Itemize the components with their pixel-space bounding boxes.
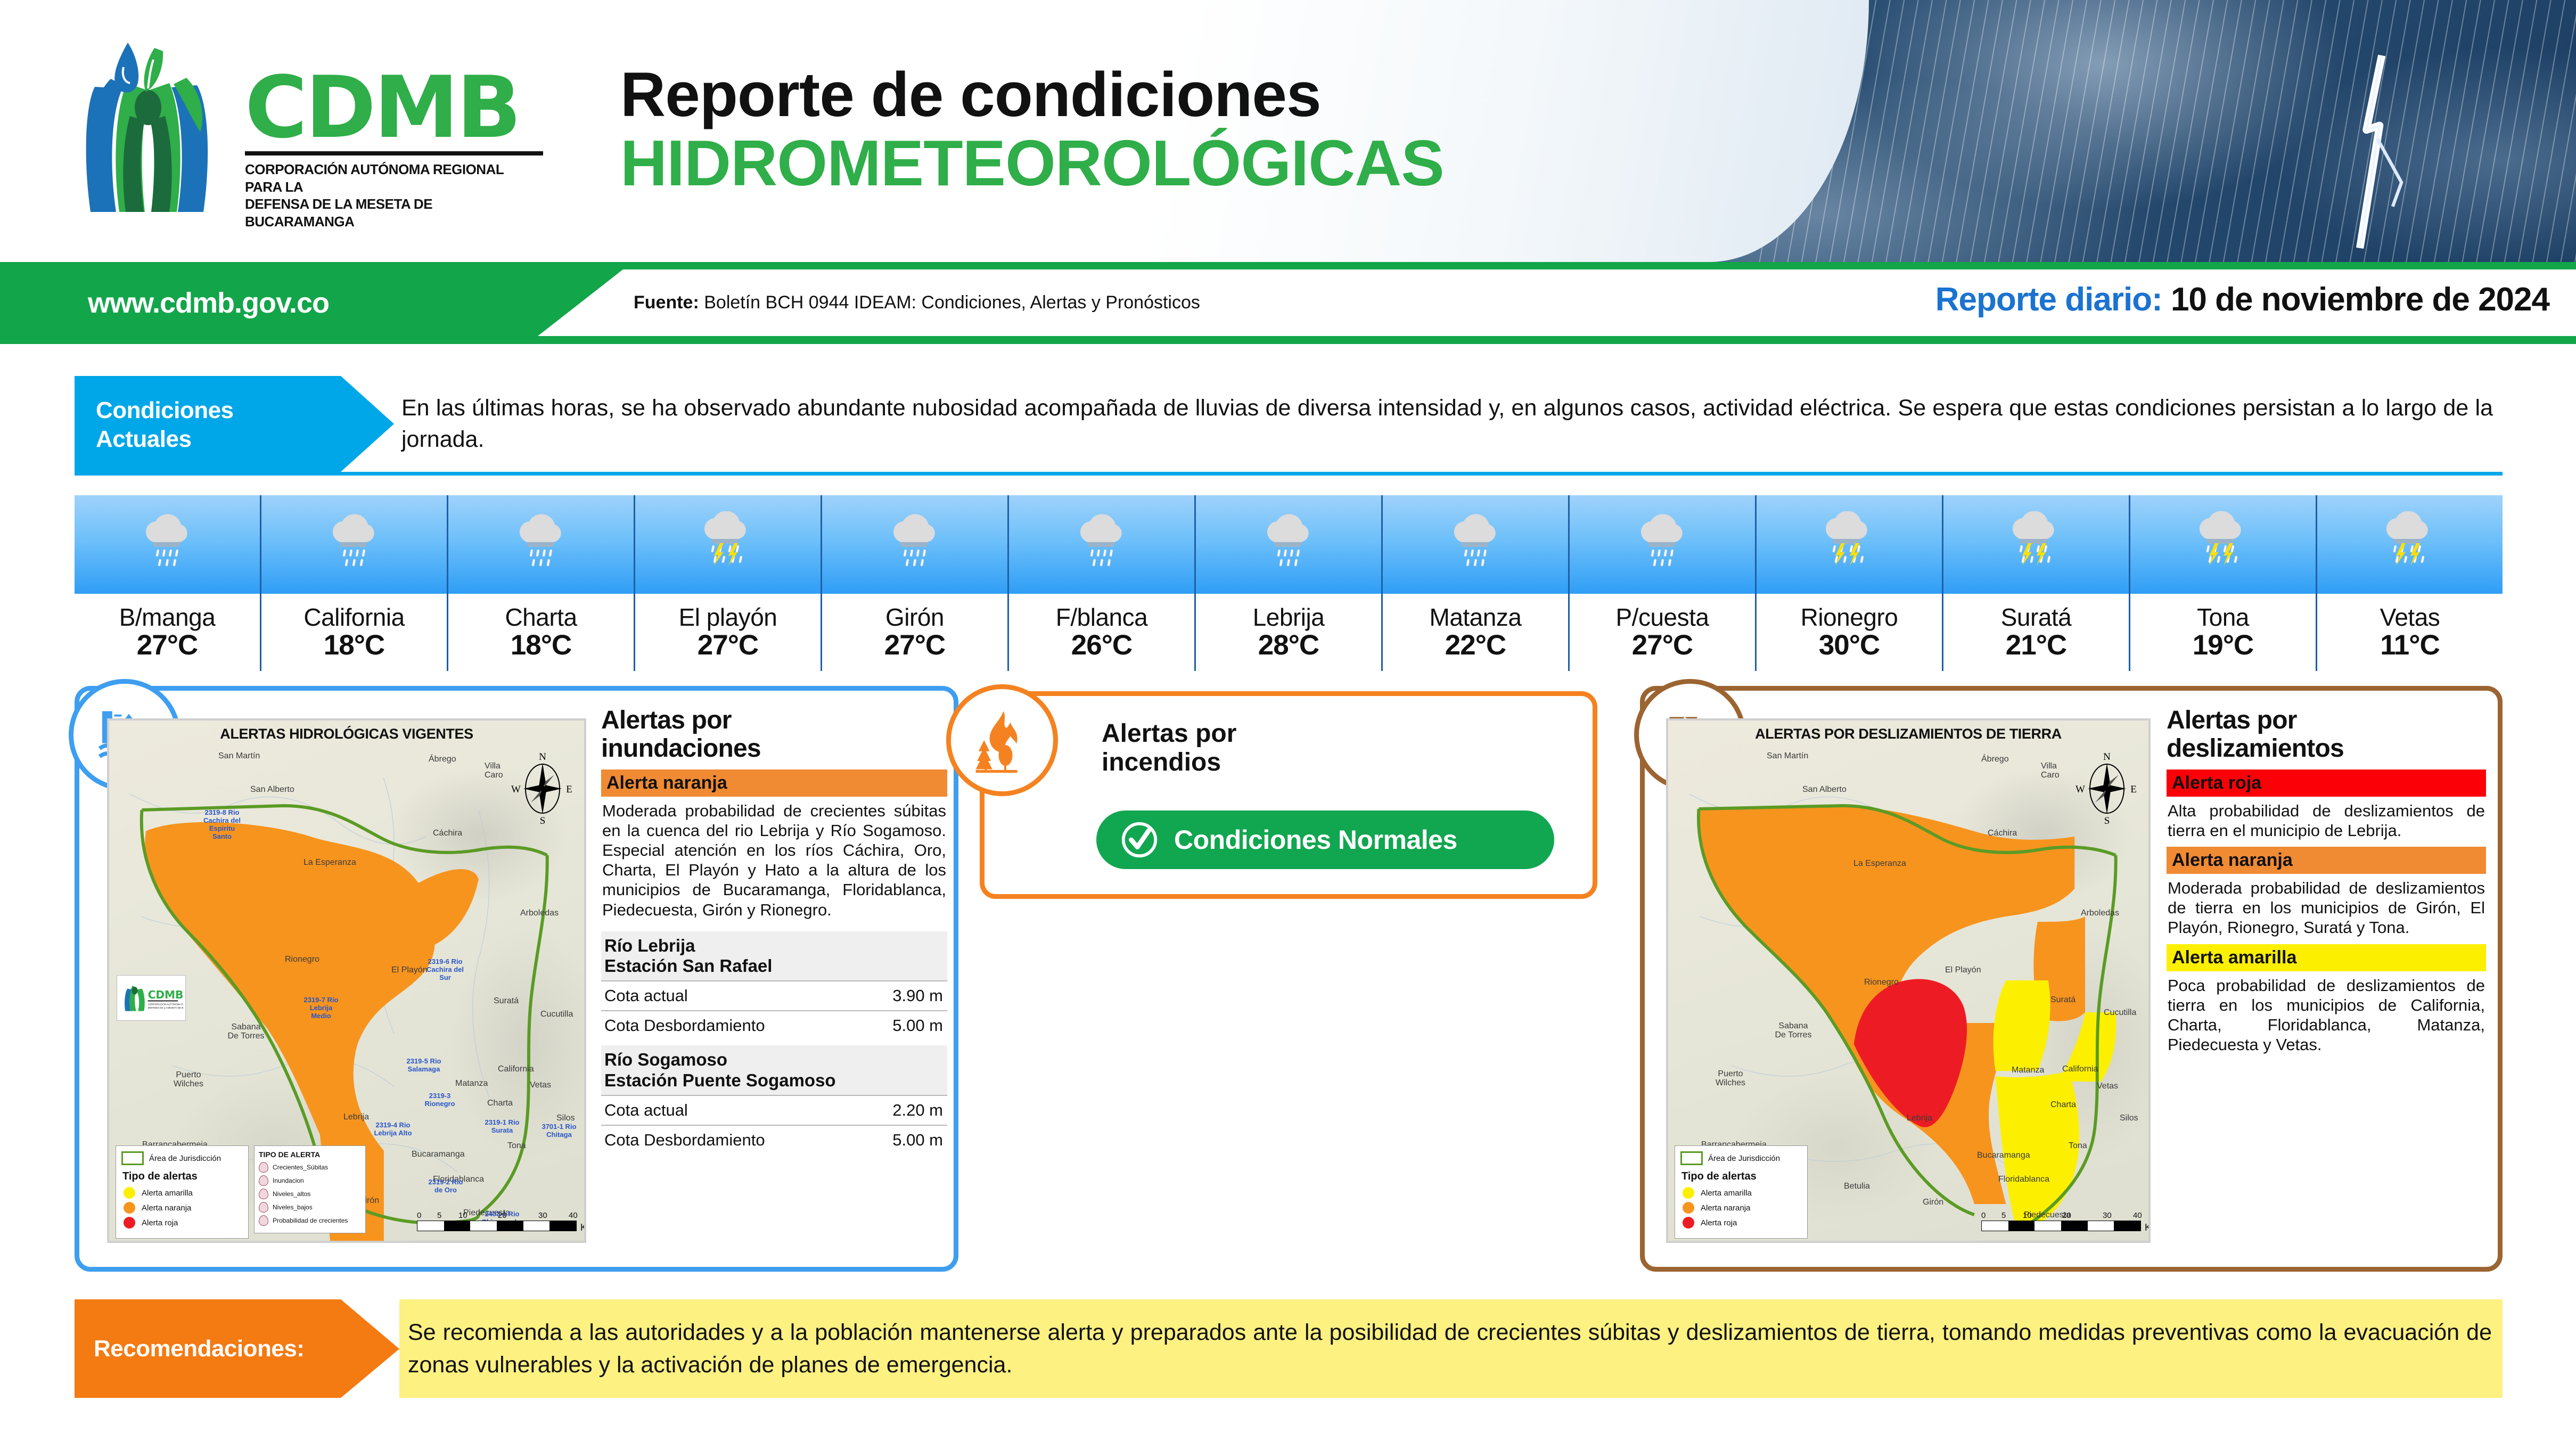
map-place-label: La Esperanza <box>303 858 356 867</box>
weather-icon-sky <box>1943 495 2129 594</box>
landslide-alert-description-yellow: Poca probabilidad de deslizamientos de t… <box>2167 971 2486 1061</box>
alert-type-label: Inundacion <box>273 1177 304 1184</box>
map-place-label: Silos <box>2120 1114 2138 1123</box>
svg-text:E: E <box>566 784 572 795</box>
logo-subtitle-line1: CORPORACIÓN AUTÓNOMA REGIONAL PARA LA <box>245 161 543 195</box>
temperature-label-block: Rionegro30°C <box>1757 594 1942 671</box>
alert-type-legend-title: TIPO DE ALERTA <box>259 1150 361 1159</box>
temperature-value: 28°C <box>1258 631 1319 660</box>
temperature-cell: P/cuesta27°C <box>1570 495 1757 671</box>
map-river-label: 2319-5 Rio Salamaga <box>405 1058 443 1074</box>
map-place-label: Villa Caro <box>485 762 509 780</box>
temperature-city: Suratá <box>2001 605 2072 630</box>
map-place-label: Vetas <box>530 1080 551 1090</box>
weather-icon-sky <box>75 495 260 594</box>
legend-item-label: Alerta roja <box>142 1218 178 1227</box>
current-conditions-tag-line2: Actuales <box>96 425 394 454</box>
fire-panel-heading: Alertas por incendios <box>1102 719 1236 777</box>
station-row-label: Cota Desbordamiento <box>604 1131 765 1150</box>
temperature-city: Rionegro <box>1801 605 1898 630</box>
legend-item-label: Alerta roja <box>1701 1218 1737 1227</box>
legend-swatch-yellow <box>124 1187 135 1199</box>
landslide-alert-level-badge-orange: Alerta naranja <box>2167 847 2486 874</box>
station-row-value: 2.20 m <box>892 1101 943 1120</box>
station-row: Cota Desbordamiento 5.00 m <box>601 1125 947 1155</box>
station-name: Estación Puente Sogamoso <box>604 1070 943 1091</box>
temperature-value: 19°C <box>2193 631 2253 660</box>
recommendations-tag: Recomendaciones: <box>75 1299 399 1398</box>
map-place-label: Arboledas <box>2081 908 2119 918</box>
weather-icon-sky <box>2317 495 2503 594</box>
temperature-city: Matanza <box>1430 605 1522 630</box>
svg-text:CORPORACIÓN AUTÓNOMA REGIONAL: CORPORACIÓN AUTÓNOMA REGIONAL <box>148 1003 183 1006</box>
map-place-label: Tona <box>507 1141 526 1151</box>
alert-type-label: Crecientes_Súbitas <box>273 1164 328 1171</box>
alert-type-label: Probabilidad de crecientes <box>273 1217 348 1224</box>
temperature-cell: Vetas11°C <box>2317 495 2503 671</box>
flood-panel-heading: Alertas por inundaciones <box>601 707 947 763</box>
map-place-label: Puerto Wilches <box>168 1071 209 1089</box>
landslide-alert-level-badge-yellow: Alerta amarilla <box>2167 944 2486 971</box>
page-header: CDMB CORPORACIÓN AUTÓNOMA REGIONAL PARA … <box>0 0 2576 262</box>
legend-jurisdiction-swatch <box>121 1151 144 1165</box>
scale-tick: 30 <box>2103 1211 2112 1220</box>
thunderstorm-icon <box>2004 511 2068 578</box>
svg-text:N: N <box>539 751 546 763</box>
legend-jurisdiction-label: Área de Jurisdicción <box>149 1154 221 1163</box>
legend-swatch-yellow <box>1683 1187 1694 1199</box>
station-header: Río Lebrija Estación San Rafael <box>601 931 947 981</box>
landslide-panel-heading: Alertas por deslizamientos <box>2167 707 2486 763</box>
map-scale-bar: 0 5 10 20 30 40 Km <box>1981 1211 2141 1231</box>
legend-title: Tipo de alertas <box>122 1170 243 1183</box>
landslide-alert-description-red: Alta probabilidad de deslizamientos de t… <box>2167 797 2486 847</box>
logo-acronym: CDMB <box>245 67 543 148</box>
svg-text:N: N <box>2103 751 2111 763</box>
alert-type-pin-icon <box>259 1162 268 1173</box>
map-place-label: Ábrego <box>1981 755 2009 764</box>
current-conditions-section: Condiciones Actuales En las últimas hora… <box>75 376 2503 472</box>
map-place-label: Puerto Wilches <box>1710 1070 1751 1088</box>
cdmb-logo-mark-icon <box>64 36 240 217</box>
scale-tick: 20 <box>498 1211 507 1220</box>
temperature-city: California <box>303 605 404 630</box>
temperature-cell: El playón27°C <box>635 495 822 671</box>
map-cdmb-logo: CDMB CORPORACIÓN AUTÓNOMA REGIONAL DEFEN… <box>117 975 186 1021</box>
source-value: Boletín BCH 0944 IDEAM: Condiciones, Ale… <box>704 292 1200 313</box>
map-place-label: San Alberto <box>1802 785 1847 795</box>
map-canvas: San Martín San Alberto Ábrego Villa Caro… <box>1668 746 2148 1243</box>
station-row-label: Cota Desbordamiento <box>604 1016 765 1035</box>
fire-status-badge: Condiciones Normales <box>1096 811 1554 869</box>
legend-swatch-red <box>1683 1217 1694 1229</box>
map-river-label: 2319-3 Rionegro <box>421 1092 459 1108</box>
weather-icon-sky <box>2130 495 2316 594</box>
temperature-cell: California18°C <box>261 495 448 671</box>
temperature-strip: B/manga27°C California18°C <box>75 495 2503 671</box>
fire-status-label: Condiciones Normales <box>1174 824 1457 855</box>
current-conditions-underline <box>75 472 2503 476</box>
map-place-label: San Martín <box>218 751 260 761</box>
map-place-label: El Playón <box>391 965 428 975</box>
weather-icon-sky <box>1009 495 1194 594</box>
current-conditions-text: En las últimas horas, se ha observado ab… <box>394 376 2503 472</box>
temperature-city: El playón <box>679 605 777 630</box>
temperature-label-block: Suratá21°C <box>1943 594 2129 671</box>
temperature-label-block: California18°C <box>261 594 447 671</box>
map-place-label: Matanza <box>2012 1066 2044 1075</box>
map-title: ALERTAS HIDROLÓGICAS VIGENTES <box>109 726 584 742</box>
map-place-label: Bucaramanga <box>412 1150 465 1159</box>
alert-type-pin-icon <box>259 1202 268 1213</box>
temperature-city: P/cuesta <box>1616 605 1709 630</box>
source-text: Fuente: Boletín BCH 0944 IDEAM: Condicio… <box>634 292 1200 313</box>
forest-fire-icon <box>946 684 1058 796</box>
compass-rose-icon: N S E W <box>2075 751 2139 826</box>
thunderstorm-icon <box>1817 511 1881 578</box>
thunderstorm-icon <box>696 511 760 578</box>
flood-alert-text-column: Alertas por inundaciones Alerta naranja … <box>601 707 947 1155</box>
scale-tick: 10 <box>2023 1211 2032 1220</box>
compass-rose-icon: N S E W <box>511 751 575 826</box>
map-place-label: Villa Caro <box>2041 762 2065 780</box>
legend-title: Tipo de alertas <box>1681 1170 1802 1183</box>
temperature-value: 18°C <box>511 631 571 660</box>
legend-swatch-orange <box>1683 1202 1694 1214</box>
temperature-city: B/manga <box>119 605 216 630</box>
title-line-1: Reporte de condiciones <box>620 61 1738 129</box>
landslide-alert-level-badge-red: Alerta roja <box>2167 769 2486 797</box>
alert-type-pin-icon <box>259 1189 268 1199</box>
rain-cloud-icon <box>509 511 573 578</box>
flood-alert-level-badge: Alerta naranja <box>601 769 947 797</box>
map-place-label: California <box>2062 1065 2098 1074</box>
flood-alerts-panel: ALERTAS HIDROLÓGICAS VIGENTES <box>75 686 958 1272</box>
station-row-value: 5.00 m <box>892 1131 943 1150</box>
weather-icon-sky <box>1383 495 1568 594</box>
temperature-cell: B/manga27°C <box>75 495 261 671</box>
legend-item-label: Alerta amarilla <box>1701 1189 1752 1198</box>
svg-text:CDMB: CDMB <box>148 988 183 1001</box>
station-name: Estación San Rafael <box>604 956 943 976</box>
weather-icon-sky <box>822 495 1007 594</box>
scale-unit: Km <box>580 1222 586 1233</box>
landslide-alerts-map[interactable]: ALERTAS POR DESLIZAMIENTOS DE TIERRA <box>1666 718 2151 1243</box>
temperature-cell: Matanza22°C <box>1383 495 1570 671</box>
map-place-label: Tona <box>2069 1141 2087 1151</box>
legend-item-label: Alerta naranja <box>142 1204 191 1213</box>
map-canvas: San Martín San Alberto Ábrego Villa Caro… <box>109 746 584 1243</box>
map-place-label: Suratá <box>2050 995 2075 1005</box>
weather-icon-sky <box>1196 495 1381 594</box>
map-legend: Área de Jurisdicción Tipo de alertas Ale… <box>1675 1145 1808 1239</box>
svg-text:E: E <box>2130 784 2137 795</box>
map-place-label: Charta <box>487 1099 513 1108</box>
weather-icon-sky <box>635 495 821 594</box>
map-place-label: Betulia <box>1844 1182 1870 1191</box>
map-place-label: Matanza <box>455 1079 488 1088</box>
temperature-city: Vetas <box>2380 605 2440 630</box>
temperature-cell: Girón27°C <box>822 495 1009 671</box>
map-place-label: San Alberto <box>250 785 294 795</box>
map-place-label: Sabana De Torres <box>1773 1022 1814 1040</box>
map-place-label: Lebrija <box>343 1112 369 1122</box>
rain-cloud-icon <box>883 511 947 578</box>
map-legend: Área de Jurisdicción Tipo de alertas Ale… <box>116 1145 249 1239</box>
temperature-city: Charta <box>505 605 577 630</box>
temperature-cell: Lebrija28°C <box>1196 495 1383 671</box>
temperature-city: Lebrija <box>1253 605 1325 630</box>
legend-jurisdiction-label: Área de Jurisdicción <box>1708 1154 1780 1163</box>
flood-heading-line1: Alertas por <box>601 707 947 735</box>
website-link[interactable]: www.cdmb.gov.co <box>88 286 329 320</box>
flood-heading-line2: inundaciones <box>601 735 947 763</box>
temperature-label-block: Tona19°C <box>2130 594 2316 671</box>
temperature-label-block: Charta18°C <box>448 594 634 671</box>
map-place-label: San Martín <box>1767 751 1808 761</box>
report-date-value: 10 de noviembre de 2024 <box>2171 281 2549 318</box>
temperature-value: 27°C <box>698 631 758 660</box>
map-place-label: Suratá <box>494 996 519 1006</box>
temperature-value: 30°C <box>1819 631 1880 660</box>
thunderstorm-icon <box>2191 511 2255 578</box>
temperature-value: 27°C <box>1632 631 1693 660</box>
thunderstorm-icon <box>2378 511 2442 578</box>
legend-swatch-orange <box>124 1202 135 1214</box>
current-conditions-tag-line1: Condiciones <box>96 396 394 425</box>
scale-tick: 40 <box>2133 1211 2142 1220</box>
temperature-value: 27°C <box>137 631 198 660</box>
map-place-label: California <box>498 1065 534 1074</box>
scale-tick: 30 <box>538 1211 547 1220</box>
temperature-label-block: Matanza22°C <box>1383 594 1568 671</box>
station-row-value: 3.90 m <box>892 986 943 1005</box>
station-block-lebrija: Río Lebrija Estación San Rafael Cota act… <box>601 931 947 1041</box>
svg-text:W: W <box>2075 784 2085 795</box>
map-place-label: Floridablanca <box>1998 1175 2049 1184</box>
rain-cloud-icon <box>322 511 386 578</box>
fire-heading-line1: Alertas por <box>1102 719 1236 748</box>
scale-tick: 10 <box>458 1211 467 1220</box>
station-row: Cota Desbordamiento 5.00 m <box>601 1010 947 1040</box>
map-river-label: 2319-1 Rio Surata <box>482 1119 522 1135</box>
alert-type-pin-icon <box>259 1175 268 1186</box>
svg-text:W: W <box>511 784 521 795</box>
map-river-label: 2319-7 Rio Lebrija Medio <box>302 996 340 1020</box>
info-bar-bottom-rule <box>0 339 2576 344</box>
svg-text:DEFENSA DE LA MESETA DE BUCARA: DEFENSA DE LA MESETA DE BUCARAMANGA <box>148 1006 183 1009</box>
temperature-label-block: P/cuesta27°C <box>1570 594 1755 671</box>
cdmb-logo: CDMB CORPORACIÓN AUTÓNOMA REGIONAL PARA … <box>64 36 543 233</box>
legend-swatch-red <box>124 1217 135 1229</box>
map-place-label: Silos <box>556 1114 575 1123</box>
temperature-value: 27°C <box>884 631 945 660</box>
map-place-label: El Playón <box>1945 965 1981 975</box>
temperature-label-block: B/manga27°C <box>75 594 260 671</box>
landslide-heading-line2: deslizamientos <box>2167 735 2486 763</box>
temperature-label-block: Lebrija28°C <box>1196 594 1381 671</box>
scale-unit: Km <box>2145 1222 2151 1233</box>
rain-cloud-icon <box>1070 511 1134 578</box>
station-row-label: Cota actual <box>604 986 688 1005</box>
map-river-label: 2319-4 Rio Lebrija Alto <box>373 1121 413 1137</box>
alert-type-label: Niveles_altos <box>273 1190 310 1198</box>
station-row-value: 5.00 m <box>892 1016 943 1035</box>
map-place-label: Bucaramanga <box>1977 1151 2030 1160</box>
temperature-label-block: Girón27°C <box>822 594 1007 671</box>
temperature-city: F/blanca <box>1056 605 1147 630</box>
source-label: Fuente: <box>634 292 699 313</box>
page-title: Reporte de condiciones HIDROMETEOROLÓGIC… <box>620 61 1738 198</box>
map-river-label: 2319-8 Rio Cachira del Espiritu Santo <box>201 809 243 841</box>
map-place-label: La Esperanza <box>1853 859 1906 869</box>
check-circle-icon <box>1119 819 1160 861</box>
map-place-label: Vetas <box>2097 1082 2118 1091</box>
map-place-label: Cáchira <box>1988 829 2017 838</box>
landslide-alert-text-column: Alertas por deslizamientos Alerta roja A… <box>2167 707 2486 1061</box>
temperature-cell: Suratá21°C <box>1943 495 2130 671</box>
rain-cloud-icon <box>1257 511 1320 578</box>
rain-cloud-icon <box>135 511 199 578</box>
temperature-value: 26°C <box>1071 631 1132 660</box>
temperature-city: Tona <box>2197 605 2249 630</box>
temperature-label-block: F/blanca26°C <box>1009 594 1194 671</box>
temperature-value: 22°C <box>1445 631 1506 660</box>
legend-item-label: Alerta naranja <box>1701 1204 1750 1213</box>
temperature-value: 18°C <box>324 631 384 660</box>
legend-item-label: Alerta amarilla <box>142 1189 193 1198</box>
station-row: Cota actual 2.20 m <box>601 1095 947 1125</box>
weather-icon-sky <box>448 495 634 594</box>
recommendations-section: Recomendaciones: Se recomienda a las aut… <box>75 1299 2503 1398</box>
map-scale-bar: 0 5 10 20 30 40 Km <box>417 1211 577 1231</box>
rain-cloud-icon <box>1443 511 1507 578</box>
title-line-2: HIDROMETEOROLÓGICAS <box>620 129 1738 198</box>
scale-tick: 5 <box>437 1211 441 1220</box>
scale-tick: 20 <box>2062 1211 2071 1220</box>
scale-tick: 0 <box>1981 1211 1986 1220</box>
station-row: Cota actual 3.90 m <box>601 980 947 1010</box>
rain-streaks <box>1757 0 2576 262</box>
report-date: Reporte diario: 10 de noviembre de 2024 <box>1935 281 2549 318</box>
lightning-bolt-icon <box>2343 53 2412 250</box>
station-block-sogamoso: Río Sogamoso Estación Puente Sogamoso Co… <box>601 1045 947 1155</box>
landslide-alert-description-orange: Moderada probabilidad de deslizamientos … <box>2167 874 2486 944</box>
legend-jurisdiction-swatch <box>1680 1151 1703 1165</box>
logo-subtitle-line2: DEFENSA DE LA MESETA DE BUCARAMANGA <box>245 195 543 230</box>
map-river-label: 3701-1 Rio Chitaga <box>542 1123 577 1139</box>
temperature-label-block: Vetas11°C <box>2317 594 2503 671</box>
svg-text:S: S <box>2104 815 2110 826</box>
map-river-label: 2319-2 Rio de Oro <box>426 1178 465 1194</box>
scale-tick: 5 <box>2001 1211 2006 1220</box>
map-place-label: Sabana De Torres <box>225 1023 267 1041</box>
temperature-cell: F/blanca26°C <box>1009 495 1196 671</box>
fire-alerts-panel: Alertas por incendios Condiciones Normal… <box>980 691 1597 899</box>
alert-type-label: Niveles_bajos <box>273 1204 313 1211</box>
map-place-label: Lebrija <box>1907 1114 1932 1123</box>
rain-cloud-icon <box>1630 511 1694 578</box>
map-place-label: Rionegro <box>285 955 319 964</box>
flood-alert-description: Moderada probabilidad de crecientes súbi… <box>601 797 947 926</box>
landslide-heading-line1: Alertas por <box>2167 707 2486 735</box>
landslide-alerts-panel: ALERTAS POR DESLIZAMIENTOS DE TIERRA <box>1640 686 2503 1272</box>
temperature-cell: Rionegro30°C <box>1757 495 1943 671</box>
scale-tick: 0 <box>417 1211 421 1220</box>
map-place-label: Charta <box>2050 1100 2076 1110</box>
map-place-label: Rionegro <box>1864 978 1899 987</box>
map-river-label: 2319-6 Rio Cachira del Sur <box>426 958 464 982</box>
station-river-name: Río Lebrija <box>604 936 943 956</box>
map-title: ALERTAS POR DESLIZAMIENTOS DE TIERRA <box>1668 726 2148 742</box>
recommendations-text: Se recomienda a las autoridades y a la p… <box>399 1299 2503 1398</box>
temperature-city: Girón <box>885 605 944 630</box>
info-bar: www.cdmb.gov.co Fuente: Boletín BCH 0944… <box>0 262 2576 342</box>
weather-icon-sky <box>261 495 447 594</box>
alert-type-pin-icon <box>259 1215 268 1226</box>
scale-tick: 40 <box>569 1211 578 1220</box>
station-river-name: Río Sogamoso <box>604 1050 943 1070</box>
temperature-cell: Tona19°C <box>2130 495 2317 671</box>
map-place-label: Cucutilla <box>2104 1008 2136 1018</box>
station-row-label: Cota actual <box>604 1101 688 1120</box>
svg-text:S: S <box>540 815 546 826</box>
map-place-label: Cucutilla <box>540 1010 573 1019</box>
map-place-label: Arboledas <box>520 908 559 918</box>
fire-heading-line2: incendios <box>1102 748 1236 777</box>
map-alert-type-legend: TIPO DE ALERTA Crecientes_Súbitas Inunda… <box>254 1145 366 1233</box>
temperature-cell: Charta18°C <box>448 495 635 671</box>
report-date-label: Reporte diario: <box>1935 281 2162 318</box>
map-place-label: Cáchira <box>433 829 462 838</box>
hydrological-alerts-map[interactable]: ALERTAS HIDROLÓGICAS VIGENTES <box>107 718 586 1243</box>
map-place-label: Girón <box>1923 1198 1943 1207</box>
temperature-value: 21°C <box>2006 631 2066 660</box>
weather-icon-sky <box>1757 495 1942 594</box>
map-place-label: Ábrego <box>429 755 456 764</box>
current-conditions-tag: Condiciones Actuales <box>75 376 394 472</box>
weather-icon-sky <box>1570 495 1755 594</box>
station-header: Río Sogamoso Estación Puente Sogamoso <box>601 1045 947 1095</box>
temperature-value: 11°C <box>2380 631 2440 660</box>
temperature-label-block: El playón27°C <box>635 594 821 671</box>
